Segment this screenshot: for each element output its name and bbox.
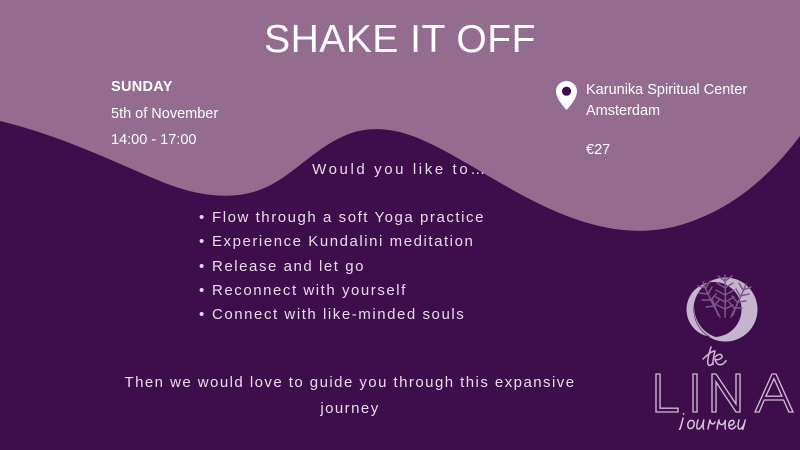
list-item: Flow through a soft Yoga practice	[199, 206, 485, 230]
logo-wordmark	[656, 374, 793, 412]
closing-text: Then we would love to guide you through …	[100, 370, 600, 423]
logo-the	[703, 347, 726, 365]
poster-canvas: SHAKE IT OFF SUNDAY 5th of November 14:0…	[0, 0, 800, 450]
page-title: SHAKE IT OFF	[0, 18, 800, 62]
venue-block: Karunika Spiritual Center Amsterdam €27	[556, 80, 747, 158]
venue-name: Karunika Spiritual Center	[586, 82, 747, 98]
brand-logo	[650, 255, 800, 430]
venue-price: €27	[586, 142, 747, 158]
logo-journey	[674, 413, 745, 430]
venue-row: Karunika Spiritual Center Amsterdam	[556, 80, 747, 122]
schedule-time: 14:00 - 17:00	[111, 133, 218, 148]
venue-address: Karunika Spiritual Center Amsterdam	[586, 80, 747, 122]
crescent-moon-with-botanicals-icon	[687, 275, 758, 342]
schedule-block: SUNDAY 5th of November 14:00 - 17:00	[111, 80, 218, 148]
list-item: Release and let go	[199, 255, 485, 279]
map-pin-icon	[556, 81, 577, 115]
lead-in-text: Would you like to…	[0, 161, 800, 178]
schedule-date: 5th of November	[111, 107, 218, 122]
list-item: Experience Kundalini meditation	[199, 230, 485, 254]
list-item: Connect with like-minded souls	[199, 303, 485, 327]
venue-city: Amsterdam	[586, 103, 660, 119]
schedule-day: SUNDAY	[111, 80, 218, 95]
benefits-list: Flow through a soft Yoga practice Experi…	[199, 206, 485, 327]
list-item: Reconnect with yourself	[199, 279, 485, 303]
